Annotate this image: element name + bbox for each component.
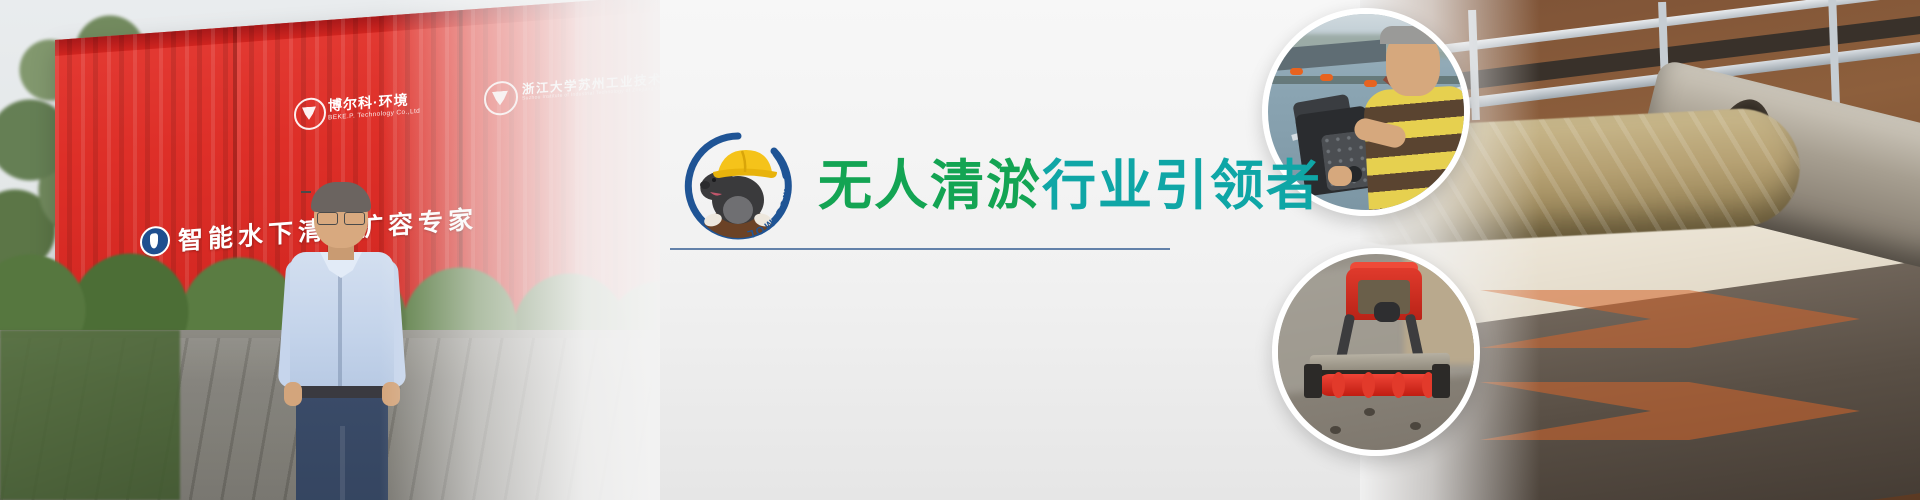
eyeglasses-bridge — [301, 191, 311, 193]
brand-row: MUD MOLE 无人清淤 行业引领者 — [680, 128, 1322, 244]
person-hair — [311, 182, 371, 212]
person-belt — [296, 386, 388, 398]
person-left-hand — [284, 382, 302, 406]
headline: 无人清淤 行业引领者 — [818, 159, 1322, 213]
mud-mole-logo: MUD MOLE — [680, 128, 796, 244]
auger-end-cap — [1432, 364, 1450, 398]
left-photo-fade — [380, 0, 660, 500]
hero-banner: 博尔科·环境 BEKE.P. Technology Co.,Ltd 浙江大学苏州… — [0, 0, 1920, 500]
headline-divider — [670, 248, 1170, 250]
headline-part-1: 无人清淤 — [818, 159, 1042, 213]
center-content: MUD MOLE 无人清淤 行业引领者 — [660, 0, 1420, 500]
brand-emblem-icon — [294, 97, 326, 131]
shirt-placket — [338, 264, 342, 390]
grass-strip — [0, 330, 180, 500]
trouser-seam — [340, 426, 345, 500]
left-photo: 博尔科·环境 BEKE.P. Technology Co.,Ltd 浙江大学苏州… — [0, 0, 660, 500]
eyeglasses-icon — [317, 212, 365, 223]
headline-part-2: 行业引领者 — [1042, 159, 1322, 213]
